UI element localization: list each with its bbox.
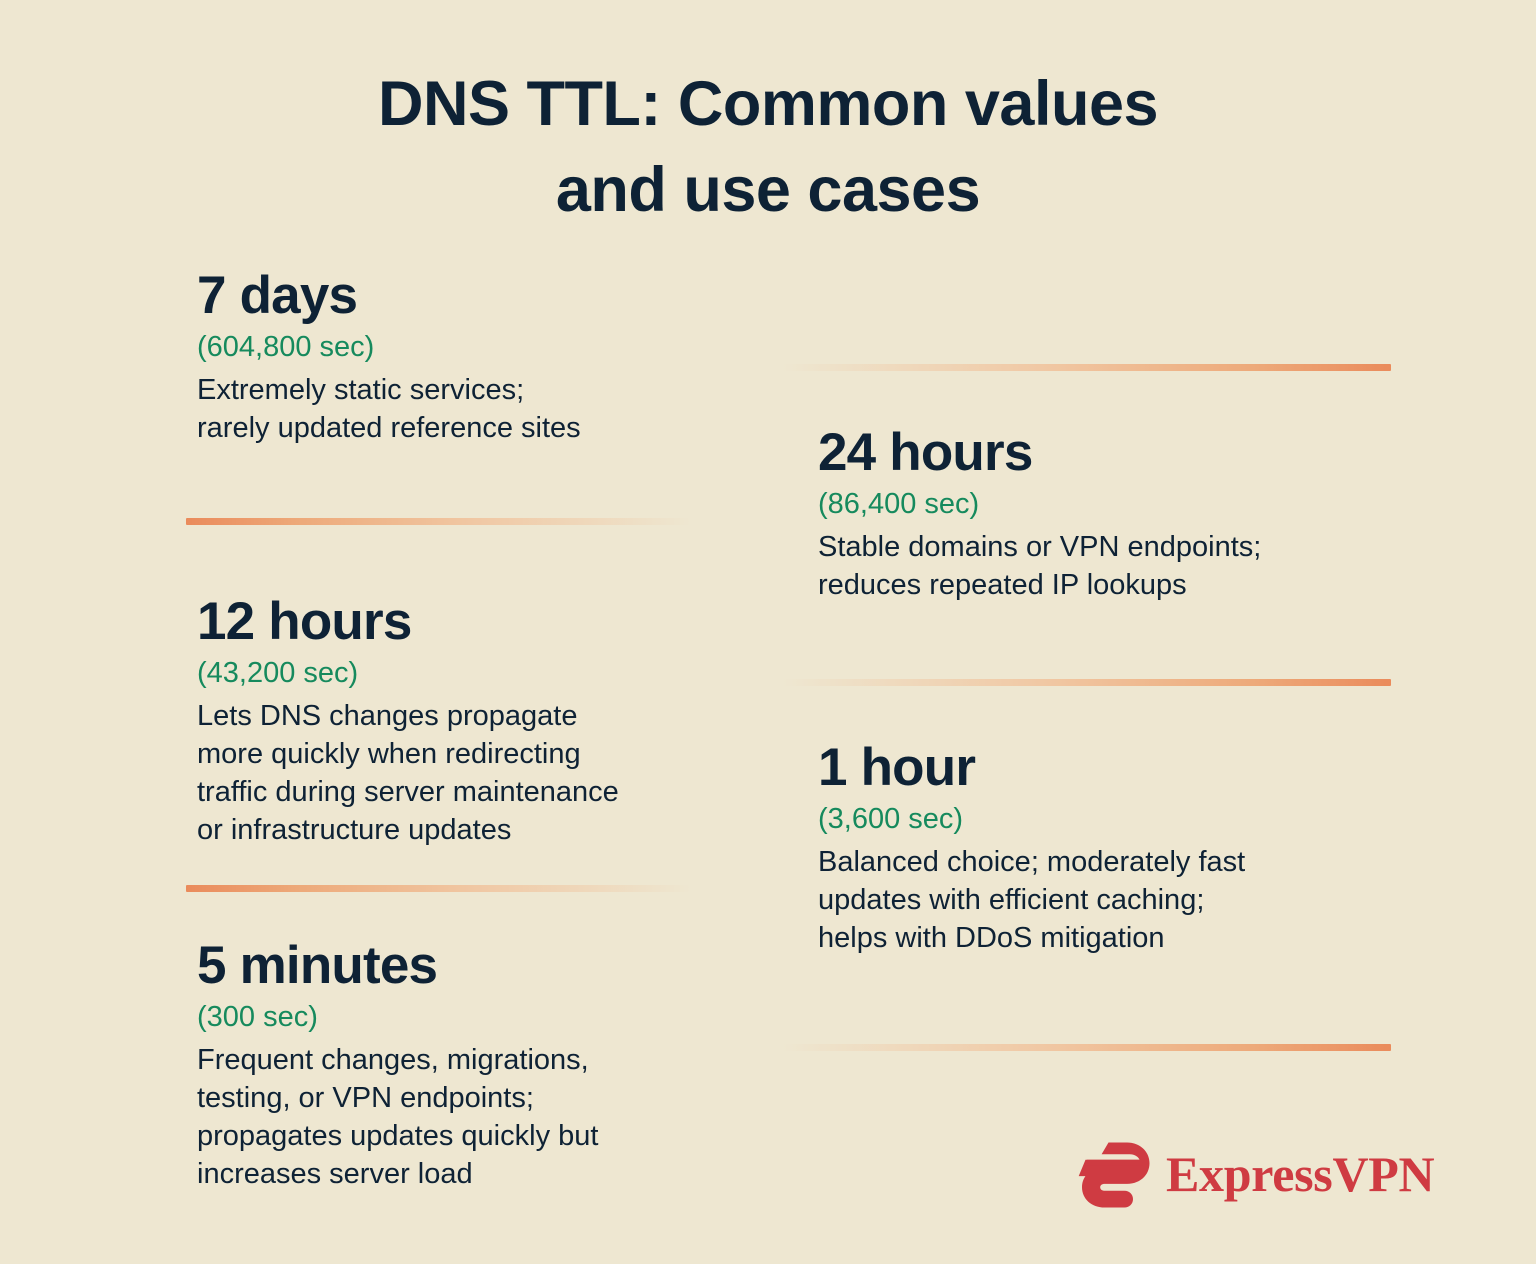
ttl-description-12-hours: Lets DNS changes propagate more quickly … — [197, 698, 737, 850]
page-title-line-1: DNS TTL: Common values — [0, 62, 1536, 148]
divider-left-2 — [186, 885, 691, 892]
ttl-description-line: Frequent changes, migrations, — [197, 1042, 737, 1080]
divider-right-3 — [783, 1044, 1391, 1051]
ttl-value-7-days: 7 days — [197, 268, 737, 325]
ttl-description-5-minutes: Frequent changes, migrations, testing, o… — [197, 1042, 737, 1194]
ttl-description-line: Stable domains or VPN endpoints; — [818, 529, 1418, 567]
ttl-seconds-24-hours: (86,400 sec) — [818, 488, 1418, 521]
ttl-seconds-1-hour: (3,600 sec) — [818, 803, 1418, 836]
ttl-value-1-hour: 1 hour — [818, 740, 1418, 797]
ttl-description-line: Lets DNS changes propagate — [197, 698, 737, 736]
ttl-description-line: updates with efficient caching; — [818, 882, 1418, 920]
expressvpn-logo: ExpressVPN — [1078, 1138, 1434, 1210]
ttl-description-line: traffic during server maintenance — [197, 774, 737, 812]
ttl-description-line: more quickly when redirecting — [197, 736, 737, 774]
expressvpn-e-mark-icon — [1078, 1138, 1152, 1210]
expressvpn-wordmark: ExpressVPN — [1166, 1149, 1434, 1199]
ttl-value-12-hours: 12 hours — [197, 594, 737, 651]
ttl-description-line: rarely updated reference sites — [197, 410, 737, 448]
page-title-line-2: and use cases — [0, 148, 1536, 234]
divider-right-1 — [783, 364, 1391, 371]
ttl-entry-5-minutes: 5 minutes (300 sec) Frequent changes, mi… — [197, 938, 737, 1194]
ttl-description-line: Balanced choice; moderately fast — [818, 844, 1418, 882]
divider-left-1 — [186, 518, 691, 525]
infographic-canvas: DNS TTL: Common values and use cases 7 d… — [0, 0, 1536, 1264]
ttl-value-24-hours: 24 hours — [818, 425, 1418, 482]
ttl-description-line: propagates updates quickly but — [197, 1118, 737, 1156]
divider-right-2 — [783, 679, 1391, 686]
ttl-seconds-7-days: (604,800 sec) — [197, 331, 737, 364]
ttl-entry-12-hours: 12 hours (43,200 sec) Lets DNS changes p… — [197, 594, 737, 850]
ttl-entry-24-hours: 24 hours (86,400 sec) Stable domains or … — [818, 425, 1418, 605]
ttl-description-line: increases server load — [197, 1156, 737, 1194]
ttl-description-line: testing, or VPN endpoints; — [197, 1080, 737, 1118]
ttl-description-line: helps with DDoS mitigation — [818, 920, 1418, 958]
ttl-description-line: or infrastructure updates — [197, 812, 737, 850]
ttl-description-24-hours: Stable domains or VPN endpoints; reduces… — [818, 529, 1418, 605]
ttl-entry-7-days: 7 days (604,800 sec) Extremely static se… — [197, 268, 737, 448]
ttl-description-line: Extremely static services; — [197, 372, 737, 410]
page-title: DNS TTL: Common values and use cases — [0, 62, 1536, 233]
ttl-entry-1-hour: 1 hour (3,600 sec) Balanced choice; mode… — [818, 740, 1418, 958]
ttl-seconds-5-minutes: (300 sec) — [197, 1001, 737, 1034]
ttl-description-line: reduces repeated IP lookups — [818, 567, 1418, 605]
ttl-description-7-days: Extremely static services; rarely update… — [197, 372, 737, 448]
ttl-value-5-minutes: 5 minutes — [197, 938, 737, 995]
ttl-description-1-hour: Balanced choice; moderately fast updates… — [818, 844, 1418, 958]
ttl-seconds-12-hours: (43,200 sec) — [197, 657, 737, 690]
